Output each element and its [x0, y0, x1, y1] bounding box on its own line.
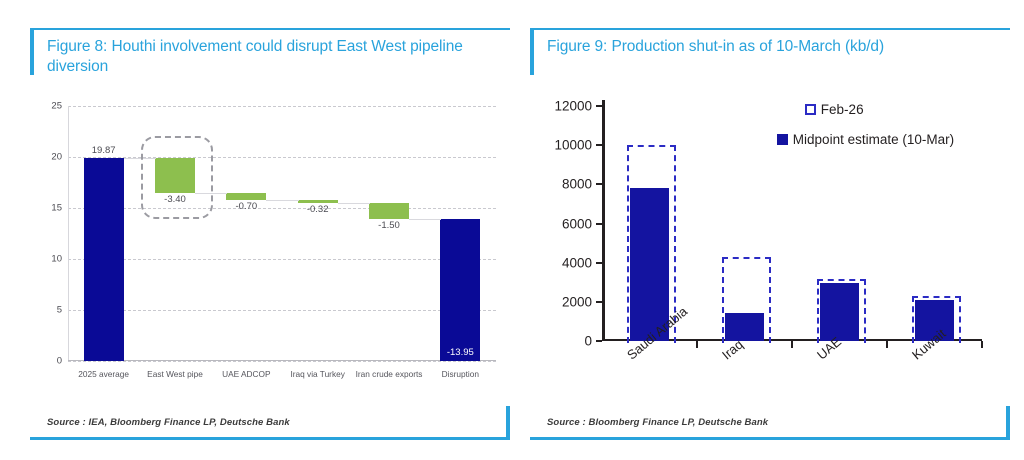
y-axis-label-15: 15	[51, 203, 62, 214]
panel-left-accent-bar	[530, 28, 534, 75]
gridline-25	[68, 106, 496, 107]
waterfall-chart: 051015202519.872025 average-3.40East Wes…	[68, 106, 496, 361]
feb26-swatch-icon	[805, 104, 816, 115]
y-axis-label-6000: 6000	[562, 216, 592, 231]
figure-9-panel: Figure 9: Production shut-in as of 10-Ma…	[530, 28, 1010, 440]
y-tick-10000	[596, 144, 602, 146]
gridline-5	[68, 310, 496, 311]
category-label-3: Iraq via Turkey	[290, 369, 344, 379]
legend-item-feb26: Feb-26	[805, 102, 864, 117]
midpoint-bar-1	[725, 313, 765, 341]
gridline-0	[68, 361, 496, 362]
category-label-4: Iran crude exports	[356, 369, 423, 379]
y-tick-12000	[596, 105, 602, 107]
waterfall-bar-5	[440, 219, 480, 361]
y-axis-label-0: 0	[584, 334, 592, 349]
connector-3	[266, 200, 298, 201]
waterfall-bar-0	[84, 158, 124, 361]
legend-label-midpoint: Midpoint estimate (10-Mar)	[793, 132, 954, 147]
panel-top-rule	[530, 28, 1010, 30]
y-axis-label-20: 20	[51, 152, 62, 163]
y-axis-label-10000: 10000	[554, 138, 592, 153]
y-axis-label-25: 25	[51, 101, 62, 112]
legend-label-feb26: Feb-26	[821, 102, 864, 117]
y-tick-0	[596, 340, 602, 342]
panel-top-rule	[30, 28, 510, 30]
bar-value-label-3: -0.32	[307, 204, 329, 215]
x-tick-1	[791, 341, 793, 348]
y-axis-label-5: 5	[57, 305, 62, 316]
category-label-1: East West pipe	[147, 369, 203, 379]
y-axis-label-8000: 8000	[562, 177, 592, 192]
waterfall-bar-2	[226, 193, 266, 200]
production-shutin-chart: 020004000600080001000012000Saudi ArabiaI…	[602, 106, 982, 341]
category-label-2: UAE ADCOP	[222, 369, 270, 379]
y-tick-8000	[596, 183, 602, 185]
waterfall-bar-3	[298, 200, 338, 203]
chart-legend: Feb-26Midpoint estimate (10-Mar)	[777, 102, 1005, 162]
x-tick-0	[696, 341, 698, 348]
panel-right-accent-bar	[506, 406, 510, 440]
x-axis-line	[68, 360, 496, 361]
y-axis-label-0: 0	[57, 356, 62, 367]
y-axis-label-2000: 2000	[562, 294, 592, 309]
panel-left-accent-bar	[30, 28, 34, 75]
connector-4	[338, 203, 370, 204]
figure-9-source: Source : Bloomberg Finance LP, Deutsche …	[547, 417, 768, 428]
y-axis-line	[602, 100, 605, 341]
gridline-10	[68, 259, 496, 260]
panel-bottom-rule	[30, 437, 510, 440]
y-axis-line	[68, 106, 69, 361]
bar-value-label-4: -1.50	[378, 220, 400, 231]
midpoint-bar-2	[820, 283, 860, 341]
y-axis-label-10: 10	[51, 254, 62, 265]
connector-5	[409, 219, 441, 220]
figure-8-title: Figure 8: Houthi involvement could disru…	[47, 37, 497, 77]
highlight-annotation	[141, 136, 213, 219]
legend-item-midpoint: Midpoint estimate (10-Mar)	[777, 132, 954, 147]
y-tick-4000	[596, 262, 602, 264]
bar-value-label-2: -0.70	[236, 201, 258, 212]
y-axis-label-4000: 4000	[562, 255, 592, 270]
waterfall-bar-4	[369, 203, 409, 218]
figure-8-panel: Figure 8: Houthi involvement could disru…	[30, 28, 510, 440]
figure-9-title: Figure 9: Production shut-in as of 10-Ma…	[547, 37, 997, 57]
bar-value-label-5: -13.95	[447, 347, 474, 358]
figures-page: Figure 8: Houthi involvement could disru…	[0, 0, 1024, 460]
x-tick-2	[886, 341, 888, 348]
panel-right-accent-bar	[1006, 406, 1010, 440]
category-label-5: Disruption	[442, 369, 479, 379]
bar-value-label-0: 19.87	[92, 145, 116, 156]
y-tick-2000	[596, 301, 602, 303]
gridline-15	[68, 208, 496, 209]
panel-bottom-rule	[530, 437, 1010, 440]
midpoint-swatch-icon	[777, 134, 788, 145]
y-axis-label-12000: 12000	[554, 99, 592, 114]
figure-8-source: Source : IEA, Bloomberg Finance LP, Deut…	[47, 417, 290, 428]
y-tick-6000	[596, 223, 602, 225]
category-label-0: 2025 average	[78, 369, 129, 379]
x-tick-3	[981, 341, 983, 348]
